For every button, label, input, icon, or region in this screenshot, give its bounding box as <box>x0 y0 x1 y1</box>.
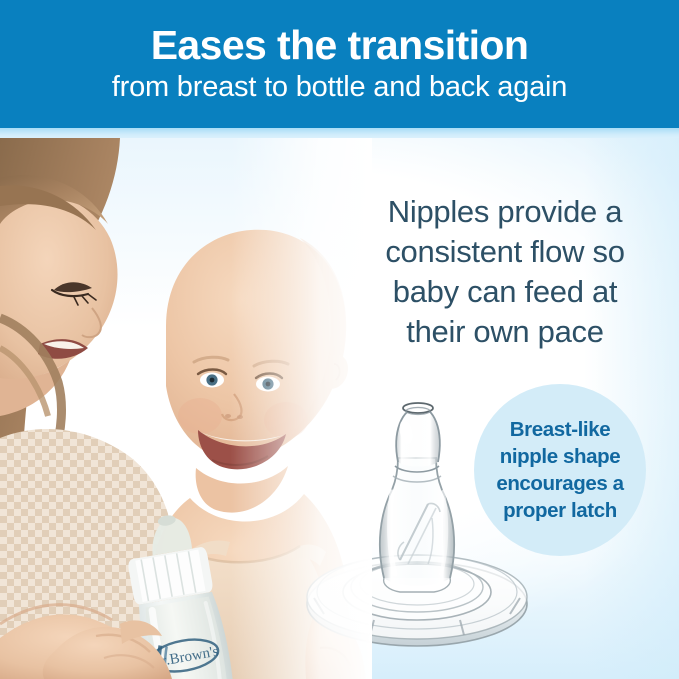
feature-paragraph-line-2: consistent flow so <box>360 232 650 272</box>
promo-graphic: Eases the transition from breast to bott… <box>0 0 679 679</box>
feature-paragraph-line-4: their own pace <box>360 312 650 352</box>
feature-paragraph-line-3: baby can feed at <box>360 272 650 312</box>
banner-subtitle: from breast to bottle and back again <box>112 70 567 104</box>
feature-paragraph-line-1: Nipples provide a <box>360 192 650 232</box>
header-banner: Eases the transition from breast to bott… <box>0 0 679 128</box>
banner-title: Eases the transition <box>151 22 529 68</box>
silicone-nipple-image <box>292 392 542 650</box>
feature-paragraph: Nipples provide a consistent flow so bab… <box>360 192 650 352</box>
